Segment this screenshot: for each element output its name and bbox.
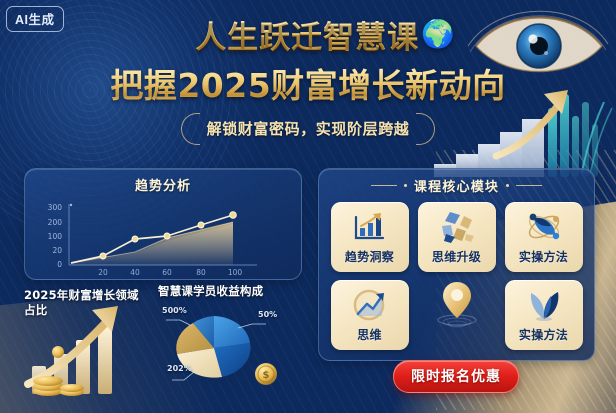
module-card-practical-method-bottom[interactable]: 实操方法 — [505, 280, 583, 350]
location-pin-decoration — [418, 280, 496, 350]
core-modules-panel: 课程核心模块 趋势洞察 — [318, 168, 595, 361]
svg-text:300: 300 — [48, 203, 63, 212]
module-card-mindset-upgrade[interactable]: 思维升级 — [418, 202, 496, 272]
ai-generated-badge: AI生成 — [6, 6, 64, 32]
bar-chart-growth-icon — [352, 207, 388, 247]
header-rule-left — [371, 185, 397, 186]
svg-text:200: 200 — [48, 218, 63, 227]
trend-chart-title: 趋势分析 — [25, 175, 301, 194]
module-card-label: 实操方法 — [519, 326, 568, 343]
location-pin-icon — [435, 285, 479, 325]
svg-text:$: $ — [263, 370, 270, 381]
svg-text:100: 100 — [228, 268, 243, 277]
globe-icon: 🌍 — [421, 21, 455, 48]
core-modules-header: 课程核心模块 — [319, 176, 594, 195]
trend-analysis-panel: 趋势分析 300 200 100 20 0 — [24, 168, 302, 280]
module-card-label: 实操方法 — [519, 248, 568, 265]
svg-text:40: 40 — [130, 268, 140, 277]
cta-enroll-button[interactable]: 限时报名优惠 — [393, 360, 519, 393]
pie-chart-title: 智慧课学员收益构成 — [158, 284, 286, 299]
header-dot-right — [506, 184, 509, 187]
svg-text:0: 0 — [57, 260, 62, 269]
mindset-shapes-icon — [438, 207, 476, 247]
wealth-bars-title: 2025年财富增长领域占比 — [24, 288, 144, 317]
module-card-practical-method-top[interactable]: 实操方法 — [505, 202, 583, 272]
svg-text:100: 100 — [48, 232, 63, 241]
subtitle-wrap: 解锁财富密码，实现阶层跨越 — [0, 116, 616, 141]
title-line-2: 把握2025财富增长新动向 — [0, 59, 616, 107]
svg-text:20: 20 — [98, 268, 108, 277]
module-card-label: 趋势洞察 — [345, 248, 394, 265]
header-dot-left — [404, 184, 407, 187]
title-line-1-row: 人生跃迁智慧课 🌍 — [0, 12, 616, 57]
pie-label-bottom: 202% — [167, 364, 192, 373]
core-modules-title: 课程核心模块 — [414, 176, 499, 195]
poster-root: AI生成 人生跃迁智慧课 🌍 把握2025财富增长新动向 解锁财富密码，实现阶层… — [0, 0, 616, 413]
pie-label-left: 500% — [162, 306, 187, 315]
trend-line-chart: 300 200 100 20 0 20 40 60 80 — [25, 194, 303, 282]
module-card-grid: 趋势洞察 思维升级 — [331, 202, 583, 350]
svg-text:80: 80 — [196, 268, 206, 277]
leaf-sprout-icon — [525, 285, 563, 325]
module-card-mindset[interactable]: 思维 — [331, 280, 409, 350]
module-card-label: 思维 — [357, 326, 382, 343]
headline-block: 人生跃迁智慧课 🌍 把握2025财富增长新动向 解锁财富密码，实现阶层跨越 — [0, 12, 616, 141]
atom-orbit-icon — [525, 207, 563, 247]
pie-label-right: 50% — [258, 310, 277, 319]
header-rule-right — [516, 185, 542, 186]
subtitle: 解锁财富密码，实现阶层跨越 — [183, 116, 434, 141]
module-card-label: 思维升级 — [432, 248, 481, 265]
title-line-1: 人生跃迁智慧课 — [161, 12, 419, 57]
trend-arrow-circle-icon — [351, 285, 389, 325]
svg-text:60: 60 — [162, 268, 172, 277]
module-card-trend-insight[interactable]: 趋势洞察 — [331, 202, 409, 272]
svg-text:20: 20 — [52, 246, 62, 255]
